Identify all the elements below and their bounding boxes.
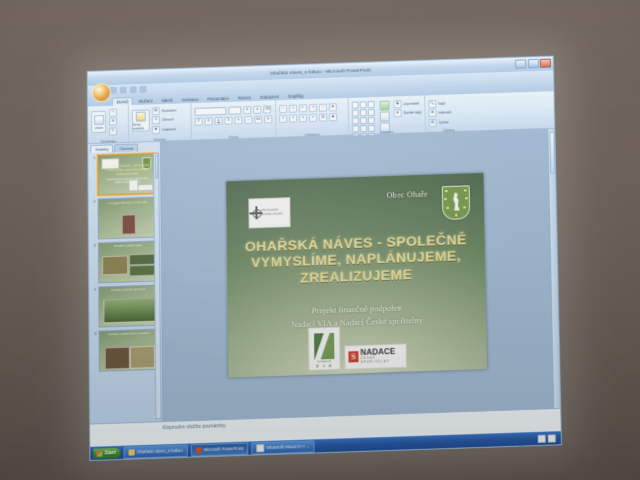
via-river-icon <box>314 332 334 359</box>
windows-logo-icon <box>96 450 102 456</box>
via-logo-line-2: V I A <box>316 363 333 369</box>
thumb-canvas-1[interactable]: OHAŘSKÁ NÁVES - SPOLEČNĚ VYMYSLÍME, NAPL… <box>97 153 157 196</box>
undo-icon[interactable] <box>120 86 127 93</box>
nadace-logo-line-2: ČESKÉ SPOŘITELNY <box>360 356 402 364</box>
municipal-coat-of-arms <box>442 185 471 220</box>
powerpoint-icon <box>195 447 201 453</box>
taskbar-item-label: Microsoft PowerPoint <box>204 446 244 452</box>
slide-thumbnail-2[interactable]: 2 Co projekt zahrnuje a co nás čeká <box>92 197 158 240</box>
character-spacing-icon[interactable]: ↔ <box>244 115 252 123</box>
close-button[interactable] <box>540 59 551 68</box>
thumb-number-5: 5 <box>93 331 97 336</box>
customize-qat-chevron-down-icon[interactable] <box>140 86 147 93</box>
change-case-icon[interactable]: Aa <box>254 115 262 123</box>
align-center-icon[interactable]: ≡ <box>289 114 297 122</box>
group-label-clipboard: Schránka <box>88 139 128 144</box>
quick-styles-label: Rychlé styly <box>403 110 421 115</box>
ribbon-group-editing: 🔍 Najít ⇆ Nahradit ▨ Vybrat Úpravy <box>425 94 471 134</box>
font-color-icon[interactable]: A <box>264 115 272 123</box>
thumb-number-1: 1 <box>91 155 95 160</box>
crest-dot-icon <box>465 197 468 200</box>
maximize-button[interactable] <box>527 59 538 68</box>
work-area: Snímky Osnova 1 OHAŘSKÁ NÁVES - SPOLEČNĚ… <box>88 129 560 424</box>
italic-icon[interactable]: K <box>205 117 213 125</box>
thumb-title-5: Povídka o podobě návsi v minulosti <box>104 332 153 337</box>
shape-curve-icon[interactable] <box>360 117 367 124</box>
horse-icon <box>452 192 460 210</box>
taskbar-item-folder[interactable]: Ohařská náves_s fotkou <box>124 444 188 458</box>
nadace-via-logo: NADACE V I A <box>308 326 341 370</box>
slide-thumbnail-1[interactable]: 1 OHAŘSKÁ NÁVES - SPOLEČNĚ VYMYSLÍME, NA… <box>91 153 157 196</box>
thumb-title-3: Povídka o podobě návsi <box>104 244 153 249</box>
slides-panel-scroll-thumb[interactable] <box>155 155 158 179</box>
thumb-photo <box>129 264 155 276</box>
replace-label: Nahradit <box>438 110 451 114</box>
select-label: Vybrat <box>439 120 449 124</box>
align-right-icon[interactable]: ≡ <box>299 114 307 122</box>
replace-icon[interactable]: ⇆ <box>428 109 436 117</box>
reset-label: Obnovit <box>162 118 174 122</box>
scroll-thumb[interactable] <box>549 132 555 174</box>
find-icon[interactable]: 🔍 <box>428 99 436 107</box>
delete-label: Odstranit <box>162 127 176 131</box>
ribbon-group-paragraph: • 1 ⇤ ⇥ ↕ ⇄ ≡ ≡ ≡ ≡ ▥ ◆ O <box>276 98 349 139</box>
slide-header-text: Obec Ohaře <box>387 189 428 199</box>
thumb-photo <box>130 346 155 368</box>
shadow-icon[interactable]: s <box>234 116 242 124</box>
ribbon-group-font: A a ⌫ T K U S s ↔ Aa A Písmo <box>191 100 276 141</box>
slide-thumbnail-5[interactable]: 5 Povídka o podobě návsi v minulosti <box>93 329 159 372</box>
paste-icon <box>94 114 104 124</box>
delete-slide-icon[interactable]: ✖ <box>152 125 160 133</box>
arrange-icon[interactable]: ▣ <box>393 100 401 108</box>
crest-dot-icon <box>464 189 467 192</box>
crest-dot-icon <box>445 189 448 192</box>
compass-ring-icon <box>252 209 261 218</box>
slide-thumbnail-3[interactable]: 3 Povídka o podobě návsi <box>92 240 158 283</box>
find-label: Najít <box>438 101 445 105</box>
thumb-title-1: OHAŘSKÁ NÁVES - SPOLEČNĚ VYMYSLÍME, NAPL… <box>103 164 152 177</box>
shape-outline-icon[interactable] <box>380 111 390 121</box>
start-label: Start <box>104 450 116 456</box>
start-button[interactable]: Start <box>93 447 121 458</box>
thumb-canvas-5[interactable]: Povídka o podobě návsi v minulosti <box>99 329 159 372</box>
paste-button[interactable]: Vložit <box>91 111 106 133</box>
taskbar-item-label: Microsoft Visual C++ ... <box>266 444 310 451</box>
folder-icon <box>129 449 135 455</box>
window-title: Ohařská náves_s fotkou - Microsoft Power… <box>270 67 371 75</box>
nadace-ceske-sporitelny-logo: S NADACE ČESKÉ SPOŘITELNY <box>344 343 407 369</box>
shape-oval-icon[interactable] <box>352 109 359 116</box>
shape-freeform-icon[interactable] <box>368 116 375 123</box>
taskbar-item-powerpoint[interactable]: Microsoft PowerPoint <box>190 442 248 456</box>
minimize-button[interactable] <box>515 59 526 68</box>
thumb-via-logo-icon <box>129 180 139 192</box>
thumb-title-2: Co projekt zahrnuje a co nás čeká <box>103 201 152 206</box>
new-slide-button[interactable]: Nový snímek <box>132 109 150 131</box>
redo-icon[interactable] <box>130 86 137 93</box>
mas-zalabi-logo: MÍSTNÍ AKČNÍ SKUPINA ZÁLABÍ <box>248 197 290 228</box>
save-icon[interactable] <box>110 87 117 94</box>
mas-logo-text: MÍSTNÍ AKČNÍ SKUPINA ZÁLABÍ <box>261 208 290 215</box>
shape-diamond-icon[interactable] <box>368 108 375 115</box>
crest-dot-icon <box>446 206 449 209</box>
taskbar-item-label: Ohařská náves_s fotkou <box>137 448 182 455</box>
underline-icon[interactable]: U <box>215 116 223 124</box>
sporitelna-s-icon: S <box>348 351 358 362</box>
slide-title[interactable]: OHAŘSKÁ NÁVES - SPOLEČNĚ VYMYSLÍME, NAPL… <box>237 230 476 287</box>
thumb-number-2: 2 <box>92 199 96 204</box>
columns-icon[interactable]: ▥ <box>319 113 327 121</box>
slides-panel: Snímky Osnova 1 OHAŘSKÁ NÁVES - SPOLEČNĚ… <box>88 142 163 424</box>
tray-network-icon[interactable] <box>538 434 546 442</box>
notes-placeholder: Klepnutím vložíte poznámky. <box>163 423 227 431</box>
thumb-number-4: 4 <box>92 287 96 292</box>
quick-styles-icon[interactable]: ◈ <box>393 109 401 117</box>
new-slide-icon <box>136 111 146 121</box>
sponsor-logos: NADACE V I A S NADACE ČESKÉ SPOŘITELNY <box>228 321 487 373</box>
crest-dot-icon <box>463 206 466 209</box>
ribbon-group-drawing: ▣ Uspořádat ◈ Rychlé styly Kreslení <box>349 95 426 136</box>
justify-icon[interactable]: ≡ <box>309 113 317 121</box>
powerpoint-window: Ohařská náves_s fotkou - Microsoft Power… <box>87 56 562 461</box>
slide-editing-stage[interactable]: Obec Ohaře MÍSTNÍ AKČNÍ SKUPINA ZÁLABÍ <box>161 129 553 421</box>
thumb-photo <box>122 214 136 234</box>
crest-dot-icon <box>444 197 447 200</box>
thumb-canvas-2[interactable]: Co projekt zahrnuje a co nás čeká <box>98 197 158 240</box>
thumb-photo <box>104 347 129 369</box>
system-tray <box>538 434 558 443</box>
arrange-label: Uspořádat <box>403 101 419 105</box>
ribbon-group-clipboard: Vložit ✂ ⧉ ✎ Schránka <box>88 105 129 145</box>
projection-room-wall: Ohařská náves_s fotkou - Microsoft Power… <box>0 0 640 480</box>
convert-smartart-icon[interactable]: ◆ <box>329 113 337 121</box>
thumb-number-3: 3 <box>92 243 96 248</box>
thumb-title-4: Povídka o podobě návsi dnes <box>104 288 153 293</box>
shape-pentagon-icon[interactable] <box>352 117 359 124</box>
thumb-canvas-3[interactable]: Povídka o podobě návsi <box>98 240 158 283</box>
current-slide[interactable]: Obec Ohaře MÍSTNÍ AKČNÍ SKUPINA ZÁLABÍ <box>226 172 487 377</box>
window-controls <box>515 59 551 69</box>
thumb-canvas-4[interactable]: Povídka o podobě návsi dnes <box>98 284 158 327</box>
slide-thumbnail-4[interactable]: 4 Povídka o podobě návsi dnes <box>92 284 158 327</box>
reset-icon[interactable]: ↺ <box>152 116 160 124</box>
tray-volume-icon[interactable] <box>548 434 556 442</box>
copy-icon[interactable]: ⧉ <box>109 117 117 125</box>
layout-label: Rozložení <box>162 108 177 112</box>
thumb-nadace-logo-icon <box>138 183 154 191</box>
bold-icon[interactable]: T <box>195 117 203 125</box>
ribbon-group-slides: Nový snímek ▤ Rozložení ↺ Obnovit ✖ Odst… <box>129 103 192 143</box>
projected-screen: Ohařská náves_s fotkou - Microsoft Power… <box>87 56 562 461</box>
cut-icon[interactable]: ✂ <box>109 108 117 116</box>
layout-icon[interactable]: ▤ <box>152 107 160 115</box>
shape-arrow-icon[interactable] <box>368 101 375 108</box>
slide-thumbnail-list[interactable]: 1 OHAŘSKÁ NÁVES - SPOLEČNĚ VYMYSLÍME, NA… <box>88 151 162 424</box>
slides-panel-scrollbar[interactable] <box>153 153 161 420</box>
crest-dot-icon <box>455 213 458 216</box>
align-left-icon[interactable]: ≡ <box>279 114 287 122</box>
shape-line-icon[interactable] <box>360 101 367 108</box>
format-painter-icon[interactable]: ✎ <box>109 127 117 135</box>
strikethrough-icon[interactable]: S <box>224 116 232 124</box>
shape-triangle-icon[interactable] <box>360 109 367 116</box>
thumb-photo <box>103 298 155 323</box>
shape-rectangle-icon[interactable] <box>352 101 359 108</box>
visualstudio-icon <box>256 444 264 452</box>
thumb-photo <box>102 256 127 275</box>
shape-fill-icon[interactable] <box>379 100 389 110</box>
compass-cross-icon <box>249 206 259 219</box>
taskbar-item-visualcpp[interactable]: Microsoft Visual C++ ... <box>251 440 315 454</box>
select-icon[interactable]: ▨ <box>429 118 437 126</box>
